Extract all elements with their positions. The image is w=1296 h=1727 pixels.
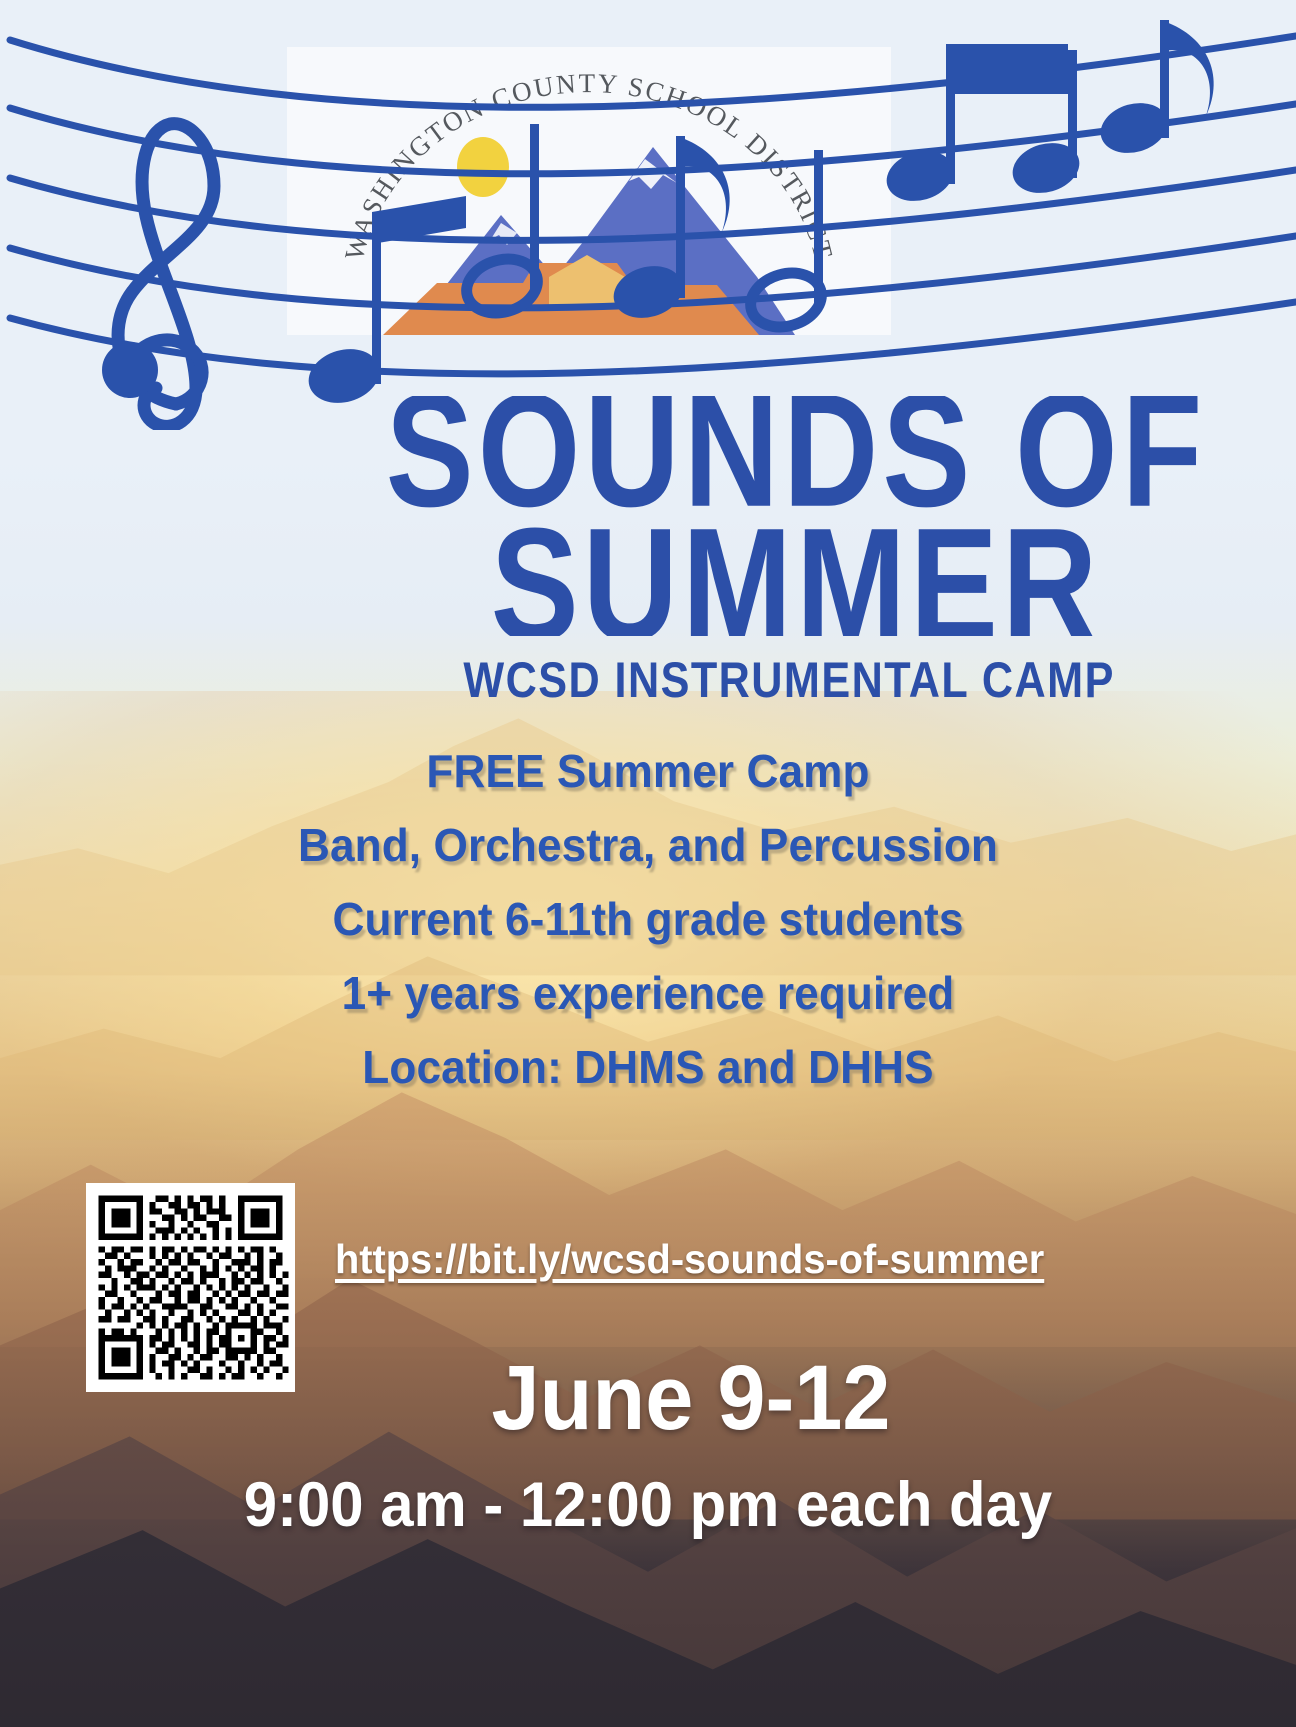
music-staff-graphic: [0, 0, 1296, 430]
poster-headline: SOUNDS OF SUMMER: [0, 396, 1296, 636]
registration-url-link[interactable]: https://bit.ly/wcsd-sounds-of-summer: [335, 1236, 1044, 1283]
camp-times: 9:00 am - 12:00 pm each day: [32, 1474, 1263, 1537]
registration-link-row: https://bit.ly/wcsd-sounds-of-summer: [0, 1236, 1296, 1283]
body-line-location: Location: DHMS and DHHS: [26, 1044, 1270, 1090]
body-line-ensembles: Band, Orchestra, and Percussion: [26, 822, 1270, 868]
body-line-free-camp: FREE Summer Camp: [26, 748, 1270, 794]
body-line-experience: 1+ years experience required: [26, 970, 1270, 1016]
poster-subtitle: WCSD INSTRUMENTAL CAMP: [0, 652, 1296, 710]
headline-line-2: SUMMER: [491, 496, 1102, 636]
camp-dates: June 9-12: [122, 1352, 1259, 1444]
poster-body-list: FREE Summer Camp Band, Orchestra, and Pe…: [0, 748, 1296, 1118]
poster-canvas: WASHINGTON COUNTY SCHOOL DISTRICT: [0, 0, 1296, 1727]
body-line-grades: Current 6-11th grade students: [26, 896, 1270, 942]
subtitle-text: WCSD INSTRUMENTAL CAMP: [463, 652, 1114, 708]
